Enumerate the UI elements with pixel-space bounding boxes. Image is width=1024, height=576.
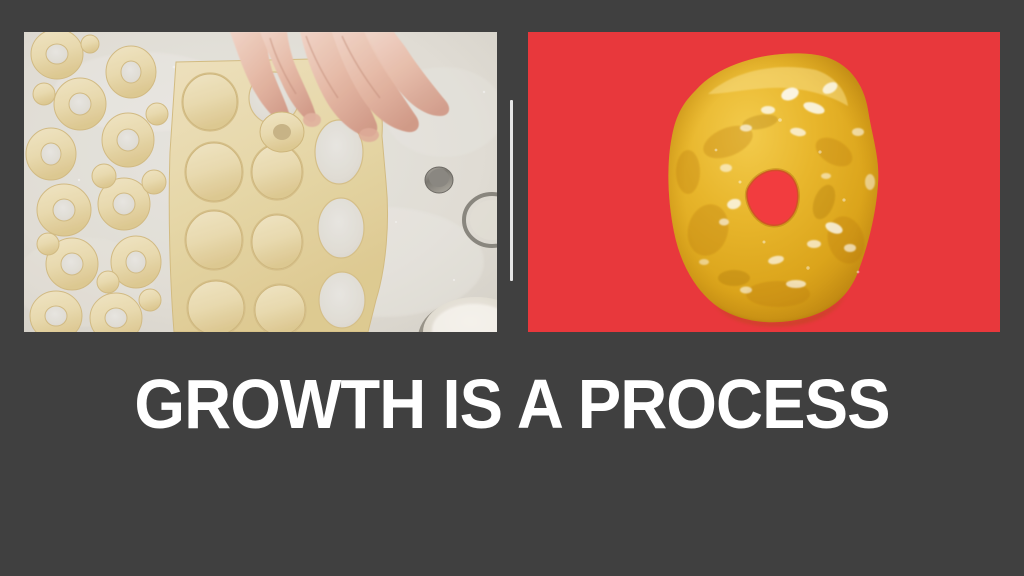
donut-illustration — [528, 32, 1000, 332]
right-image-glazed-donut — [528, 32, 1000, 332]
slide-title: GROWTH IS A PROCESS — [36, 366, 988, 442]
vertical-divider — [510, 100, 513, 281]
slide-canvas: GROWTH IS A PROCESS — [0, 0, 1024, 576]
donut-body — [668, 53, 878, 326]
dough-illustration — [24, 32, 497, 332]
left-image-dough-cutting — [24, 32, 497, 332]
